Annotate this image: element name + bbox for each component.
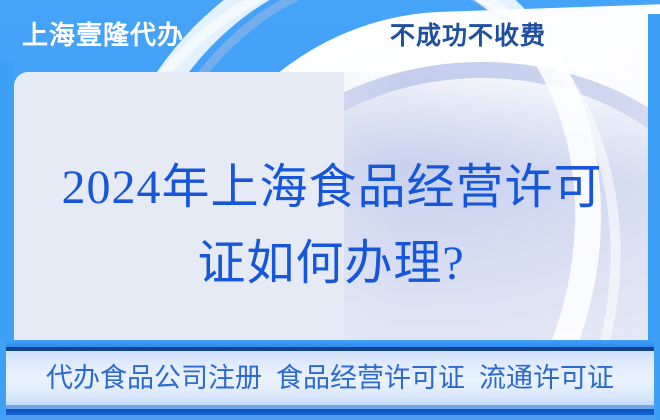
footer-bottom-strip — [0, 415, 660, 420]
footer-tag-list: 代办食品公司注册 食品经营许可证 流通许可证 — [0, 351, 660, 405]
poster-header: 上海壹隆代办 不成功不收费 — [0, 0, 660, 72]
poster-banner: 上海壹隆代办 不成功不收费 2024年上海食品经营许可 证如何办理? 代办食品公… — [0, 0, 660, 420]
header-slogan: 不成功不收费 — [390, 19, 546, 53]
footer-tag-1[interactable]: 代办食品公司注册 — [46, 360, 262, 396]
brand-name: 上海壹隆代办 — [22, 18, 184, 52]
title-line-2: 证如何办理? — [0, 226, 660, 302]
page-title: 2024年上海食品经营许可 证如何办理? — [0, 150, 660, 302]
footer-tag-2[interactable]: 食品经营许可证 — [276, 360, 465, 396]
footer-top-blue-strip — [0, 340, 660, 347]
title-line-1: 2024年上海食品经营许可 — [0, 150, 660, 226]
footer-keyword-bar: 代办食品公司注册 食品经营许可证 流通许可证 — [0, 340, 660, 420]
footer-tag-3[interactable]: 流通许可证 — [479, 360, 614, 396]
